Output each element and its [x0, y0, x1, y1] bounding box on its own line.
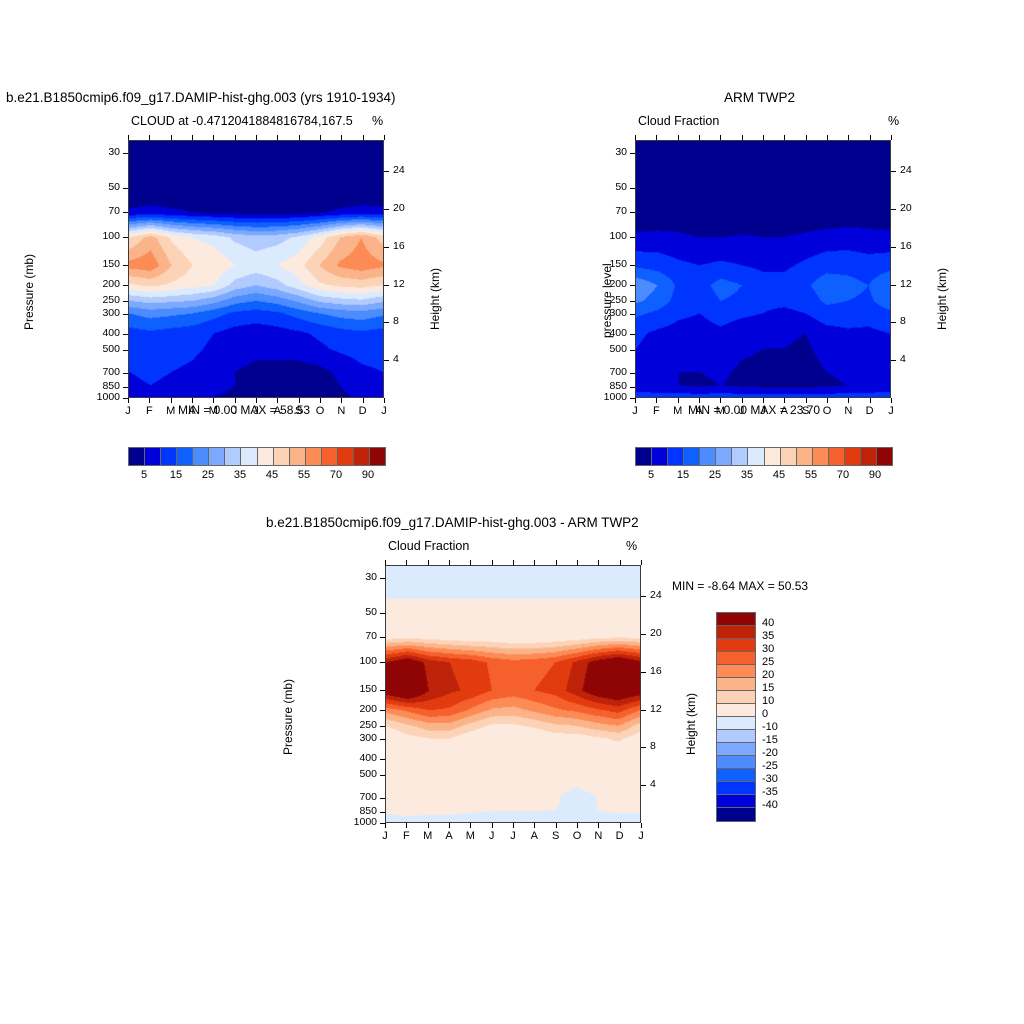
diff-month-tick [598, 823, 599, 828]
diff-height-tick-label: 12 [650, 703, 662, 715]
diff-month-tick [641, 823, 642, 828]
obs-pressure-tick-label: 70 [583, 205, 627, 217]
model-month-tick [128, 398, 129, 403]
obs-colorbar-cell[interactable] [813, 448, 829, 465]
diff-pressure-tick-label: 50 [333, 606, 377, 618]
obs-month-tick-top [763, 135, 764, 140]
obs-pressure-tick-label: 300 [583, 307, 627, 319]
obs-height-tick-label: 16 [900, 240, 912, 252]
obs-subtitle-left: Cloud Fraction [638, 114, 719, 128]
diff-colorbar-label: 30 [762, 643, 774, 655]
model-pressure-tick-label: 200 [76, 278, 120, 290]
obs-colorbar-cell[interactable] [861, 448, 877, 465]
model-pressure-tick [123, 301, 128, 302]
obs-ylabel-right: Height (km) [935, 268, 949, 330]
model-pressure-tick [123, 188, 128, 189]
model-pressure-tick-label: 150 [76, 258, 120, 270]
model-pressure-tick [123, 334, 128, 335]
diff-month-tick [406, 823, 407, 828]
obs-pressure-tick-label: 400 [583, 327, 627, 339]
obs-month-tick-top [784, 135, 785, 140]
obs-month-tick-top [827, 135, 828, 140]
obs-month-tick-top [806, 135, 807, 140]
diff-month-tick [620, 823, 621, 828]
obs-month-tick [635, 398, 636, 403]
model-month-tick-top [320, 135, 321, 140]
model-pressure-tick [123, 265, 128, 266]
obs-month-tick-top [848, 135, 849, 140]
diff-colorbar-cell[interactable] [717, 678, 755, 691]
model-colorbar-cell[interactable] [354, 448, 370, 465]
diff-month-tick-top [534, 560, 535, 565]
diff-colorbar-label: -25 [762, 760, 778, 772]
model-month-tick-top [384, 135, 385, 140]
diff-height-tick [641, 785, 646, 786]
diff-colorbar-cell[interactable] [717, 665, 755, 678]
obs-colorbar-cell[interactable] [748, 448, 764, 465]
model-pressure-tick-label: 50 [76, 181, 120, 193]
model-height-tick [384, 209, 389, 210]
model-pressure-tick [123, 212, 128, 213]
diff-pressure-tick-label: 850 [333, 805, 377, 817]
model-pressure-tick-label: 70 [76, 205, 120, 217]
diff-month-tick [556, 823, 557, 828]
obs-month-tick-top [720, 135, 721, 140]
diff-colorbar-label: 20 [762, 669, 774, 681]
diff-month-tick [577, 823, 578, 828]
model-colorbar-cell[interactable] [145, 448, 161, 465]
diff-height-tick [641, 672, 646, 673]
obs-pressure-tick-label: 200 [583, 278, 627, 290]
model-height-tick [384, 285, 389, 286]
obs-pressure-tick [630, 350, 635, 351]
obs-month-tick [699, 398, 700, 403]
model-month-tick [320, 398, 321, 403]
diff-month-tick [385, 823, 386, 828]
diff-colorbar-label: 15 [762, 682, 774, 694]
obs-pressure-tick-label: 50 [583, 181, 627, 193]
obs-month-tick-top [699, 135, 700, 140]
obs-pressure-tick [630, 188, 635, 189]
diff-month-tick-top [641, 560, 642, 565]
obs-pressure-tick-label: 30 [583, 146, 627, 158]
diff-pressure-tick [380, 798, 385, 799]
model-colorbar-cell[interactable] [129, 448, 145, 465]
diff-contour-plot[interactable] [385, 565, 641, 823]
obs-height-tick [891, 171, 896, 172]
obs-colorbar-cell[interactable] [829, 448, 845, 465]
diff-colorbar-label: 10 [762, 695, 774, 707]
model-height-tick-label: 4 [393, 353, 399, 365]
model-pressure-tick-label: 30 [76, 146, 120, 158]
diff-colorbar-label: -20 [762, 747, 778, 759]
obs-month-tick-top [742, 135, 743, 140]
diff-panel-title: b.e21.B1850cmip6.f09_g17.DAMIP-hist-ghg.… [266, 515, 639, 530]
model-month-tick [277, 398, 278, 403]
obs-month-tick [763, 398, 764, 403]
diff-height-tick [641, 634, 646, 635]
diff-month-tick [470, 823, 471, 828]
obs-contour-plot[interactable] [635, 140, 891, 398]
obs-colorbar-cell[interactable] [732, 448, 748, 465]
diff-colorbar-label: -10 [762, 721, 778, 733]
diff-colorbar-cell[interactable] [717, 808, 755, 821]
obs-height-tick [891, 360, 896, 361]
obs-colorbar-cell[interactable] [652, 448, 668, 465]
obs-pressure-tick [630, 301, 635, 302]
obs-month-tick [784, 398, 785, 403]
model-contour-plot[interactable] [128, 140, 384, 398]
obs-height-tick [891, 285, 896, 286]
model-colorbar-label: 90 [348, 469, 388, 481]
model-pressure-tick-label: 500 [76, 343, 120, 355]
model-height-tick [384, 360, 389, 361]
model-month-tick-top [149, 135, 150, 140]
obs-month-tick-top [678, 135, 679, 140]
obs-colorbar-cell[interactable] [781, 448, 797, 465]
diff-pressure-tick-label: 150 [333, 683, 377, 695]
obs-month-tick-top [635, 135, 636, 140]
diff-colorbar-label: -15 [762, 734, 778, 746]
model-month-tick-top [192, 135, 193, 140]
model-month-tick [384, 398, 385, 403]
obs-month-tick-top [870, 135, 871, 140]
diff-month-tick-top [556, 560, 557, 565]
diff-month-tick-top [470, 560, 471, 565]
model-month-tick-top [341, 135, 342, 140]
obs-month-tick-top [891, 135, 892, 140]
diff-ylabel-left: Pressure (mb) [281, 679, 295, 755]
obs-pressure-tick-label: 250 [583, 294, 627, 306]
diff-colorbar-label: 35 [762, 630, 774, 642]
obs-month-tick [848, 398, 849, 403]
diff-colorbar-cell[interactable] [717, 652, 755, 665]
diff-subtitle-left: Cloud Fraction [388, 539, 469, 553]
model-colorbar-cell[interactable] [274, 448, 290, 465]
diff-pressure-tick-label: 500 [333, 768, 377, 780]
obs-height-tick-label: 4 [900, 353, 906, 365]
diff-pressure-tick [380, 578, 385, 579]
diff-colorbar-cell[interactable] [717, 743, 755, 756]
model-month-tick-top [363, 135, 364, 140]
diff-month-tick-top [620, 560, 621, 565]
diff-colorbar-label: 40 [762, 617, 774, 629]
diff-colorbar-label: -40 [762, 799, 778, 811]
model-colorbar-cell[interactable] [370, 448, 385, 465]
diff-colorbar[interactable] [716, 612, 756, 822]
obs-pressure-tick [630, 334, 635, 335]
obs-colorbar-label: 90 [855, 469, 895, 481]
obs-month-tick [870, 398, 871, 403]
diff-month-tick-top [513, 560, 514, 565]
model-colorbar-cell[interactable] [193, 448, 209, 465]
obs-pressure-tick [630, 285, 635, 286]
model-colorbar-cell[interactable] [177, 448, 193, 465]
model-colorbar-cell[interactable] [290, 448, 306, 465]
diff-pressure-tick-label: 250 [333, 719, 377, 731]
model-month-tick [235, 398, 236, 403]
model-pressure-tick [123, 373, 128, 374]
model-pressure-tick [123, 314, 128, 315]
obs-pressure-tick-label: 850 [583, 380, 627, 392]
diff-pressure-tick [380, 710, 385, 711]
model-height-tick-label: 8 [393, 315, 399, 327]
model-subtitle-left: CLOUD at -0.4712041884816784,167.5 [131, 114, 353, 128]
model-pressure-tick [123, 153, 128, 154]
diff-month-tick-top [598, 560, 599, 565]
diff-height-tick [641, 596, 646, 597]
obs-pressure-tick [630, 237, 635, 238]
diff-month-tick [492, 823, 493, 828]
diff-colorbar-label: 0 [762, 708, 768, 720]
obs-colorbar-cell[interactable] [668, 448, 684, 465]
diff-month-tick [449, 823, 450, 828]
diff-month-tick-top [385, 560, 386, 565]
obs-panel-title: ARM TWP2 [724, 90, 795, 105]
diff-height-tick-label: 16 [650, 665, 662, 677]
diff-pressure-tick-label: 700 [333, 791, 377, 803]
diff-colorbar-cell[interactable] [717, 691, 755, 704]
diff-pressure-tick [380, 759, 385, 760]
obs-month-tick [806, 398, 807, 403]
diff-minmax: MIN = -8.64 MAX = 50.53 [672, 579, 808, 593]
model-month-tick-top [277, 135, 278, 140]
diff-colorbar-cell[interactable] [717, 782, 755, 795]
obs-month-tick [720, 398, 721, 403]
diff-pressure-tick [380, 637, 385, 638]
obs-month-tick [656, 398, 657, 403]
model-month-tick [213, 398, 214, 403]
diff-height-tick-label: 8 [650, 740, 656, 752]
model-colorbar-cell[interactable] [161, 448, 177, 465]
diff-height-tick [641, 710, 646, 711]
obs-colorbar-cell[interactable] [797, 448, 813, 465]
obs-pressure-tick [630, 265, 635, 266]
obs-pressure-tick-label: 700 [583, 366, 627, 378]
diff-colorbar-cell[interactable] [717, 730, 755, 743]
model-month-tick [192, 398, 193, 403]
diff-pressure-tick-label: 300 [333, 732, 377, 744]
obs-colorbar-cell[interactable] [845, 448, 861, 465]
obs-colorbar-cell[interactable] [684, 448, 700, 465]
obs-pressure-tick [630, 212, 635, 213]
model-month-tick-top [171, 135, 172, 140]
diff-month-label: J [629, 830, 653, 842]
model-colorbar-cell[interactable] [209, 448, 225, 465]
model-colorbar-cell[interactable] [258, 448, 274, 465]
model-colorbar-cell[interactable] [322, 448, 338, 465]
model-pressure-tick [123, 387, 128, 388]
diff-month-tick-top [449, 560, 450, 565]
model-colorbar-cell[interactable] [306, 448, 322, 465]
model-month-tick [171, 398, 172, 403]
diff-pressure-tick-label: 400 [333, 752, 377, 764]
obs-colorbar-cell[interactable] [877, 448, 892, 465]
model-height-tick [384, 247, 389, 248]
model-month-tick-top [256, 135, 257, 140]
model-height-tick [384, 322, 389, 323]
obs-height-tick-label: 20 [900, 202, 912, 214]
model-pressure-tick-label: 100 [76, 230, 120, 242]
obs-height-tick [891, 322, 896, 323]
model-month-tick [299, 398, 300, 403]
diff-pressure-tick [380, 812, 385, 813]
obs-height-tick-label: 8 [900, 315, 906, 327]
diff-colorbar-cell[interactable] [717, 639, 755, 652]
diff-month-tick [513, 823, 514, 828]
diff-height-tick-label: 4 [650, 778, 656, 790]
model-height-tick-label: 24 [393, 164, 405, 176]
obs-height-tick [891, 247, 896, 248]
obs-height-tick-label: 24 [900, 164, 912, 176]
diff-pressure-tick [380, 726, 385, 727]
diff-pressure-tick [380, 739, 385, 740]
model-pressure-tick-label: 850 [76, 380, 120, 392]
model-pressure-tick-label: 300 [76, 307, 120, 319]
model-height-tick-label: 20 [393, 202, 405, 214]
model-panel-title: b.e21.B1850cmip6.f09_g17.DAMIP-hist-ghg.… [6, 90, 395, 105]
obs-pressure-tick [630, 387, 635, 388]
diff-pressure-tick-label: 100 [333, 655, 377, 667]
diff-colorbar-label: 25 [762, 656, 774, 668]
model-month-tick-top [299, 135, 300, 140]
model-pressure-tick-label: 400 [76, 327, 120, 339]
obs-pressure-tick [630, 153, 635, 154]
model-month-tick-top [128, 135, 129, 140]
diff-month-tick-top [577, 560, 578, 565]
model-colorbar-cell[interactable] [225, 448, 241, 465]
diff-pressure-tick-label: 70 [333, 630, 377, 642]
obs-colorbar-cell[interactable] [700, 448, 716, 465]
obs-colorbar-cell[interactable] [765, 448, 781, 465]
model-colorbar[interactable] [128, 447, 386, 466]
diff-month-tick [428, 823, 429, 828]
model-month-tick-top [213, 135, 214, 140]
model-month-tick [341, 398, 342, 403]
diff-pressure-tick-label: 1000 [333, 816, 377, 828]
model-colorbar-cell[interactable] [338, 448, 354, 465]
diff-pressure-tick-label: 30 [333, 571, 377, 583]
model-subtitle-right: % [372, 114, 383, 128]
model-pressure-tick-label: 250 [76, 294, 120, 306]
diff-month-tick-top [428, 560, 429, 565]
model-colorbar-cell[interactable] [241, 448, 257, 465]
model-pressure-tick [123, 350, 128, 351]
obs-colorbar-cell[interactable] [716, 448, 732, 465]
model-month-tick-top [235, 135, 236, 140]
model-height-tick-label: 16 [393, 240, 405, 252]
diff-colorbar-cell[interactable] [717, 626, 755, 639]
diff-height-tick-label: 24 [650, 589, 662, 601]
obs-pressure-tick-label: 1000 [583, 391, 627, 403]
obs-month-label: J [879, 405, 903, 417]
model-month-tick [256, 398, 257, 403]
obs-pressure-tick [630, 373, 635, 374]
diff-colorbar-cell[interactable] [717, 704, 755, 717]
model-month-label: J [372, 405, 396, 417]
model-ylabel-right: Height (km) [428, 268, 442, 330]
obs-pressure-tick-label: 500 [583, 343, 627, 355]
obs-height-tick-label: 12 [900, 278, 912, 290]
obs-month-tick-top [656, 135, 657, 140]
obs-pressure-tick-label: 150 [583, 258, 627, 270]
diff-colorbar-label: -30 [762, 773, 778, 785]
obs-month-tick [678, 398, 679, 403]
model-height-tick-label: 12 [393, 278, 405, 290]
obs-month-tick [891, 398, 892, 403]
obs-colorbar-cell[interactable] [636, 448, 652, 465]
diff-pressure-tick [380, 613, 385, 614]
diff-colorbar-label: -35 [762, 786, 778, 798]
model-ylabel-left: Pressure (mb) [22, 254, 36, 330]
obs-pressure-tick-label: 100 [583, 230, 627, 242]
obs-subtitle-right: % [888, 114, 899, 128]
diff-pressure-tick [380, 775, 385, 776]
diff-month-tick-top [492, 560, 493, 565]
obs-month-tick [742, 398, 743, 403]
model-pressure-tick [123, 285, 128, 286]
diff-colorbar-cell[interactable] [717, 756, 755, 769]
diff-height-tick-label: 20 [650, 627, 662, 639]
diff-month-tick [534, 823, 535, 828]
diff-colorbar-cell[interactable] [717, 795, 755, 808]
diff-pressure-tick [380, 662, 385, 663]
model-height-tick [384, 171, 389, 172]
diff-colorbar-cell[interactable] [717, 613, 755, 626]
model-month-tick [149, 398, 150, 403]
model-pressure-tick-label: 1000 [76, 391, 120, 403]
diff-subtitle-right: % [626, 539, 637, 553]
diff-month-tick-top [406, 560, 407, 565]
model-pressure-tick [123, 237, 128, 238]
obs-month-tick [827, 398, 828, 403]
diff-pressure-tick [380, 690, 385, 691]
diff-colorbar-cell[interactable] [717, 717, 755, 730]
diff-pressure-tick-label: 200 [333, 703, 377, 715]
obs-pressure-tick [630, 314, 635, 315]
diff-height-tick [641, 747, 646, 748]
obs-height-tick [891, 209, 896, 210]
model-pressure-tick-label: 700 [76, 366, 120, 378]
diff-colorbar-cell[interactable] [717, 769, 755, 782]
obs-colorbar[interactable] [635, 447, 893, 466]
model-month-tick [363, 398, 364, 403]
diff-ylabel-right: Height (km) [684, 693, 698, 755]
